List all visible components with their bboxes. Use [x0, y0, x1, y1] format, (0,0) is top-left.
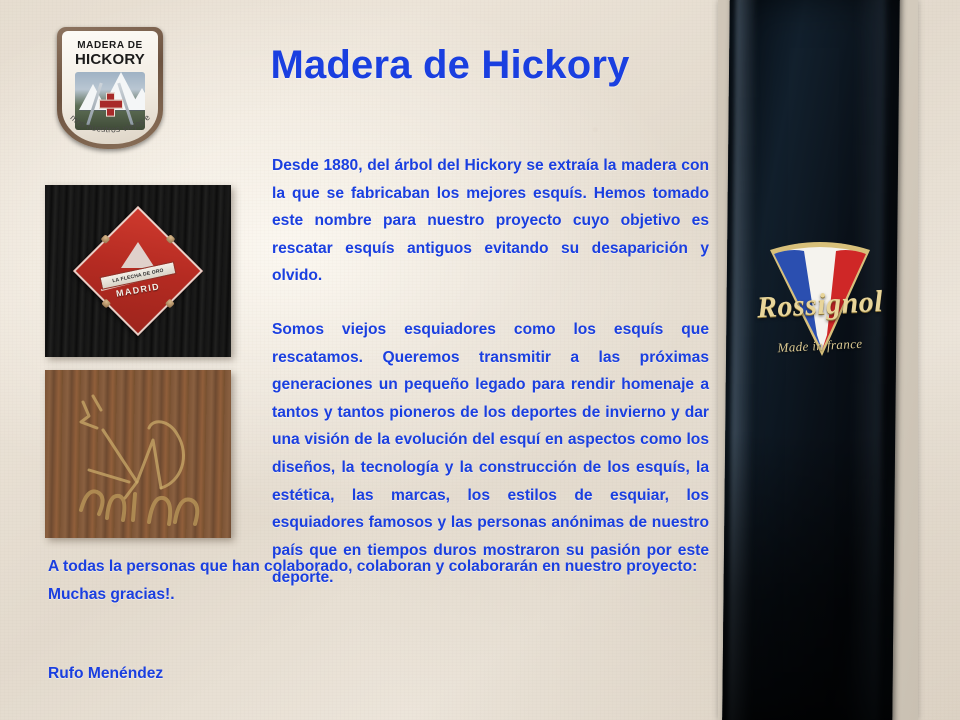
photo-poli-duo-brand — [45, 370, 231, 538]
crest-inner-face: MADERA DE HICKORY Salvemos nuestros viej… — [62, 31, 158, 144]
thanks-text: A todas la personas que han colaborado, … — [48, 553, 710, 608]
body-paragraph-1: Desde 1880, del árbol del Hickory se ext… — [272, 152, 709, 290]
rossignol-wordmark: Rossignol — [739, 284, 901, 326]
burned-brand-mark-icon — [45, 370, 231, 538]
photo-flecha-de-oro-badge: LA FLECHA DE ORO MADRID — [45, 185, 231, 357]
badge-content: LA FLECHA DE ORO MADRID — [92, 225, 184, 317]
rossignol-logo: Rossignol Made in france — [740, 240, 900, 390]
signature-text: Rufo Menéndez — [48, 665, 163, 683]
body-text: Desde 1880, del árbol del Hickory se ext… — [272, 152, 709, 592]
madera-de-hickory-crest: MADERA DE HICKORY Salvemos nuestros viej… — [57, 27, 163, 149]
tree-icon — [121, 242, 155, 268]
crest-line2-text: HICKORY — [62, 52, 158, 67]
mountain-peak-icon — [129, 88, 145, 110]
crest-motto: Salvemos nuestros viejos esquís — [62, 114, 158, 140]
body-paragraph-2: Somos viejos esquiadores como los esquís… — [272, 316, 709, 592]
slide-canvas: MADERA DE HICKORY Salvemos nuestros viej… — [0, 0, 960, 720]
photo-rossignol-ski: Rossignol Made in france — [718, 0, 918, 720]
red-cross-icon — [99, 93, 121, 115]
badge-diamond-shape: LA FLECHA DE ORO MADRID — [73, 206, 203, 336]
ski-shadow-gradient — [722, 432, 895, 720]
page-title: Madera de Hickory — [230, 43, 670, 88]
crest-line1-text: MADERA DE — [62, 41, 158, 51]
